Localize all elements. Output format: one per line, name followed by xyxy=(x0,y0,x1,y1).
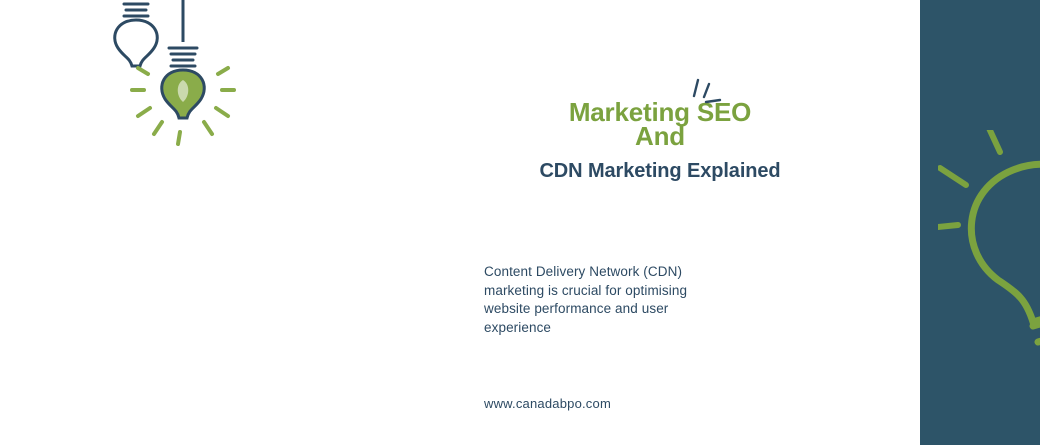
right-accent-panel xyxy=(920,0,1040,445)
website-url-link[interactable]: www.canadabpo.com xyxy=(484,396,611,411)
body-paragraph-text: Content Delivery Network (CDN) marketing… xyxy=(484,263,704,337)
title-line-2: And xyxy=(440,124,880,148)
hanging-lamps-decoration xyxy=(100,0,360,162)
headline-block: Marketing SEO And CDN Marketing Explaine… xyxy=(440,100,880,184)
body-paragraph: Content Delivery Network (CDN) marketing… xyxy=(484,263,704,337)
hanging-lightbulb-outline-icon xyxy=(115,0,158,66)
page-subtitle: CDN Marketing Explained xyxy=(440,158,880,184)
poster-canvas: Marketing SEO And CDN Marketing Explaine… xyxy=(0,0,1040,445)
large-lightbulb-outline-icon xyxy=(938,130,1040,365)
page-title: Marketing SEO And xyxy=(440,100,880,148)
sparkle-lines-icon xyxy=(692,78,738,113)
